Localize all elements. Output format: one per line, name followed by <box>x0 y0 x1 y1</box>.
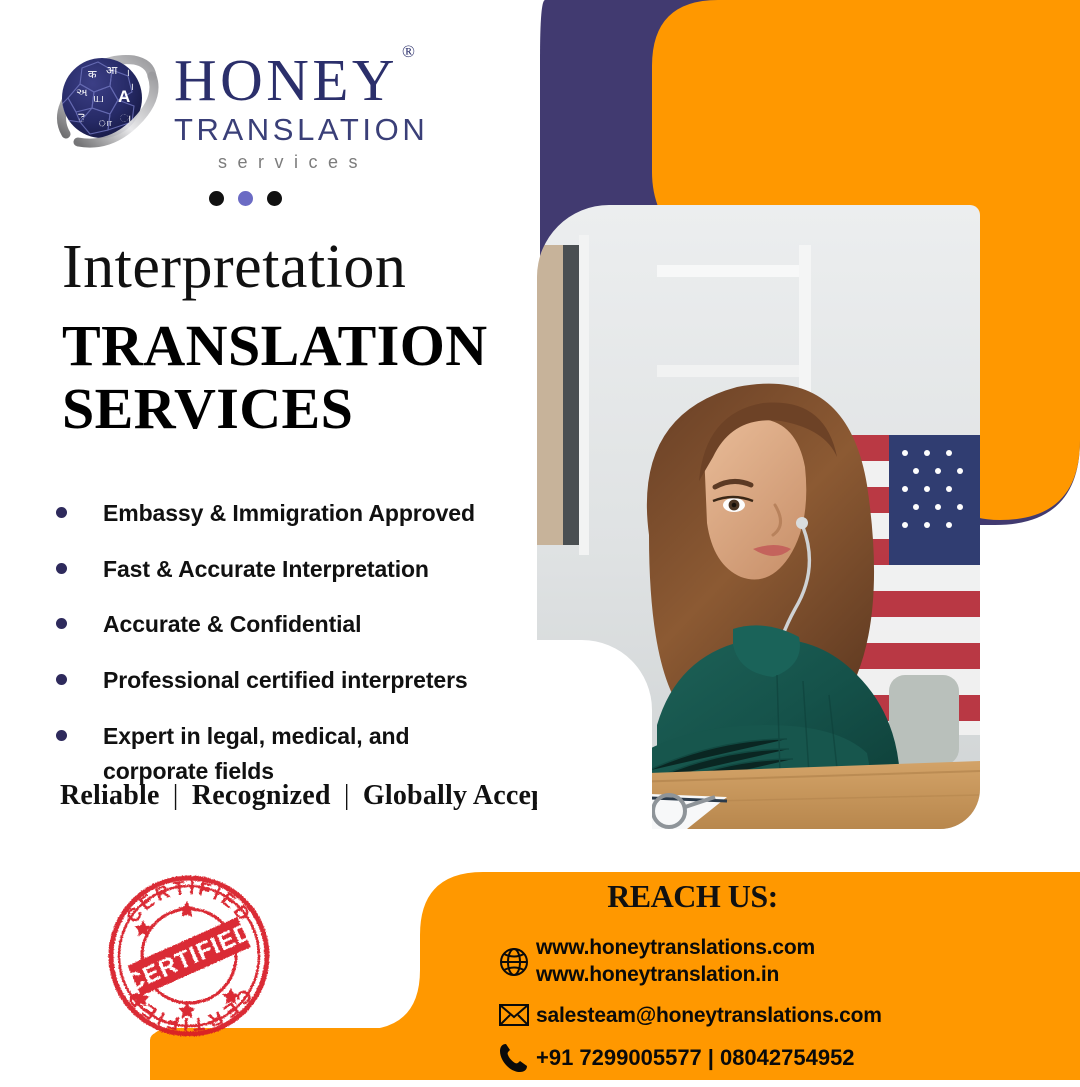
feature-list: Embassy & Immigration Approved Fast & Ac… <box>56 496 526 810</box>
email-value[interactable]: salesteam@honeytranslations.com <box>536 1002 882 1029</box>
svg-text:A: A <box>118 87 130 106</box>
dot-2 <box>238 191 253 206</box>
list-item-label: Embassy & Immigration Approved <box>103 496 475 532</box>
tagline-separator: | <box>167 780 185 811</box>
headline-bold-line-2: SERVICES <box>62 375 488 442</box>
website-1[interactable]: www.honeytranslations.com <box>536 936 815 959</box>
svg-text:।: । <box>126 68 130 79</box>
svg-text:।: । <box>130 82 134 93</box>
headline-block: Interpretation TRANSLATION SERVICES <box>62 236 488 443</box>
headline-script-line: Interpretation <box>62 236 488 298</box>
logo-brand-word: HONEY <box>174 47 398 113</box>
poster-canvas: क आ । અ ய A । ె ா ા HONEY® TRANSLATION <box>0 0 1080 1080</box>
reach-us-title: REACH US: <box>420 878 965 915</box>
phone-1[interactable]: +91 7299005577 <box>536 1045 702 1070</box>
tagline-part-2: Recognized <box>192 780 331 811</box>
decorative-dots <box>209 191 282 206</box>
website-2[interactable]: www.honeytranslation.in <box>536 963 779 986</box>
svg-text:आ: आ <box>106 65 118 77</box>
svg-text:ய: ய <box>93 90 104 105</box>
phone-separator: | <box>702 1045 720 1070</box>
phone-2[interactable]: 08042754952 <box>720 1045 855 1070</box>
list-item-label: Professional certified interpreters <box>103 663 468 699</box>
bullet-dot-icon <box>56 563 67 574</box>
bullet-dot-icon <box>56 674 67 685</box>
bullet-dot-icon <box>56 618 67 629</box>
svg-text:क: क <box>88 69 97 81</box>
tagline-separator: | <box>338 780 356 811</box>
svg-text:અ: અ <box>76 87 88 99</box>
list-item-label: Fast & Accurate Interpretation <box>103 552 429 588</box>
dot-1 <box>209 191 224 206</box>
phone-icon <box>492 1042 536 1074</box>
contact-row-phone: +91 7299005577|08042754952 <box>492 1042 1080 1074</box>
brand-logo: क आ । અ ய A । ె ா ા HONEY® TRANSLATION <box>52 46 428 173</box>
logo-brand-name: HONEY® <box>174 52 414 108</box>
certified-stamp-icon: CERTIFIED CERTIFIED CERTIFIED <box>105 872 273 1040</box>
contact-block: REACH US: www.honeytranslations.com www.… <box>420 878 1080 1087</box>
phone-values[interactable]: +91 7299005577|08042754952 <box>536 1044 855 1073</box>
envelope-icon <box>492 1002 536 1028</box>
contact-row-website: www.honeytranslations.com www.honeytrans… <box>492 935 1080 989</box>
list-item: Fast & Accurate Interpretation <box>56 552 526 588</box>
list-item: Professional certified interpreters <box>56 663 526 699</box>
globe-icon <box>492 946 536 978</box>
tagline-part-1: Reliable <box>60 780 160 811</box>
svg-text:ె: ె <box>78 111 85 125</box>
logo-translation-word: TRANSLATION <box>174 112 428 148</box>
contact-row-email: salesteam@honeytranslations.com <box>492 1002 1080 1029</box>
bullet-dot-icon <box>56 507 67 518</box>
headline-bold-line-1: TRANSLATION <box>62 312 488 379</box>
bullet-dot-icon <box>56 730 67 741</box>
svg-text:ா: ா <box>98 117 112 129</box>
list-item-label: Accurate & Confidential <box>103 607 361 643</box>
globe-with-scripts-icon: क आ । અ ய A । ె ா ા <box>52 46 160 158</box>
logo-services-word: services <box>218 152 428 173</box>
tagline: Reliable | Recognized | Globally Accepte… <box>60 780 585 812</box>
photo-corner-notch <box>537 640 652 830</box>
list-item: Accurate & Confidential <box>56 607 526 643</box>
list-item: Embassy & Immigration Approved <box>56 496 526 532</box>
website-values[interactable]: www.honeytranslations.com www.honeytrans… <box>536 935 815 989</box>
dot-3 <box>267 191 282 206</box>
registered-trademark-icon: ® <box>402 42 418 61</box>
